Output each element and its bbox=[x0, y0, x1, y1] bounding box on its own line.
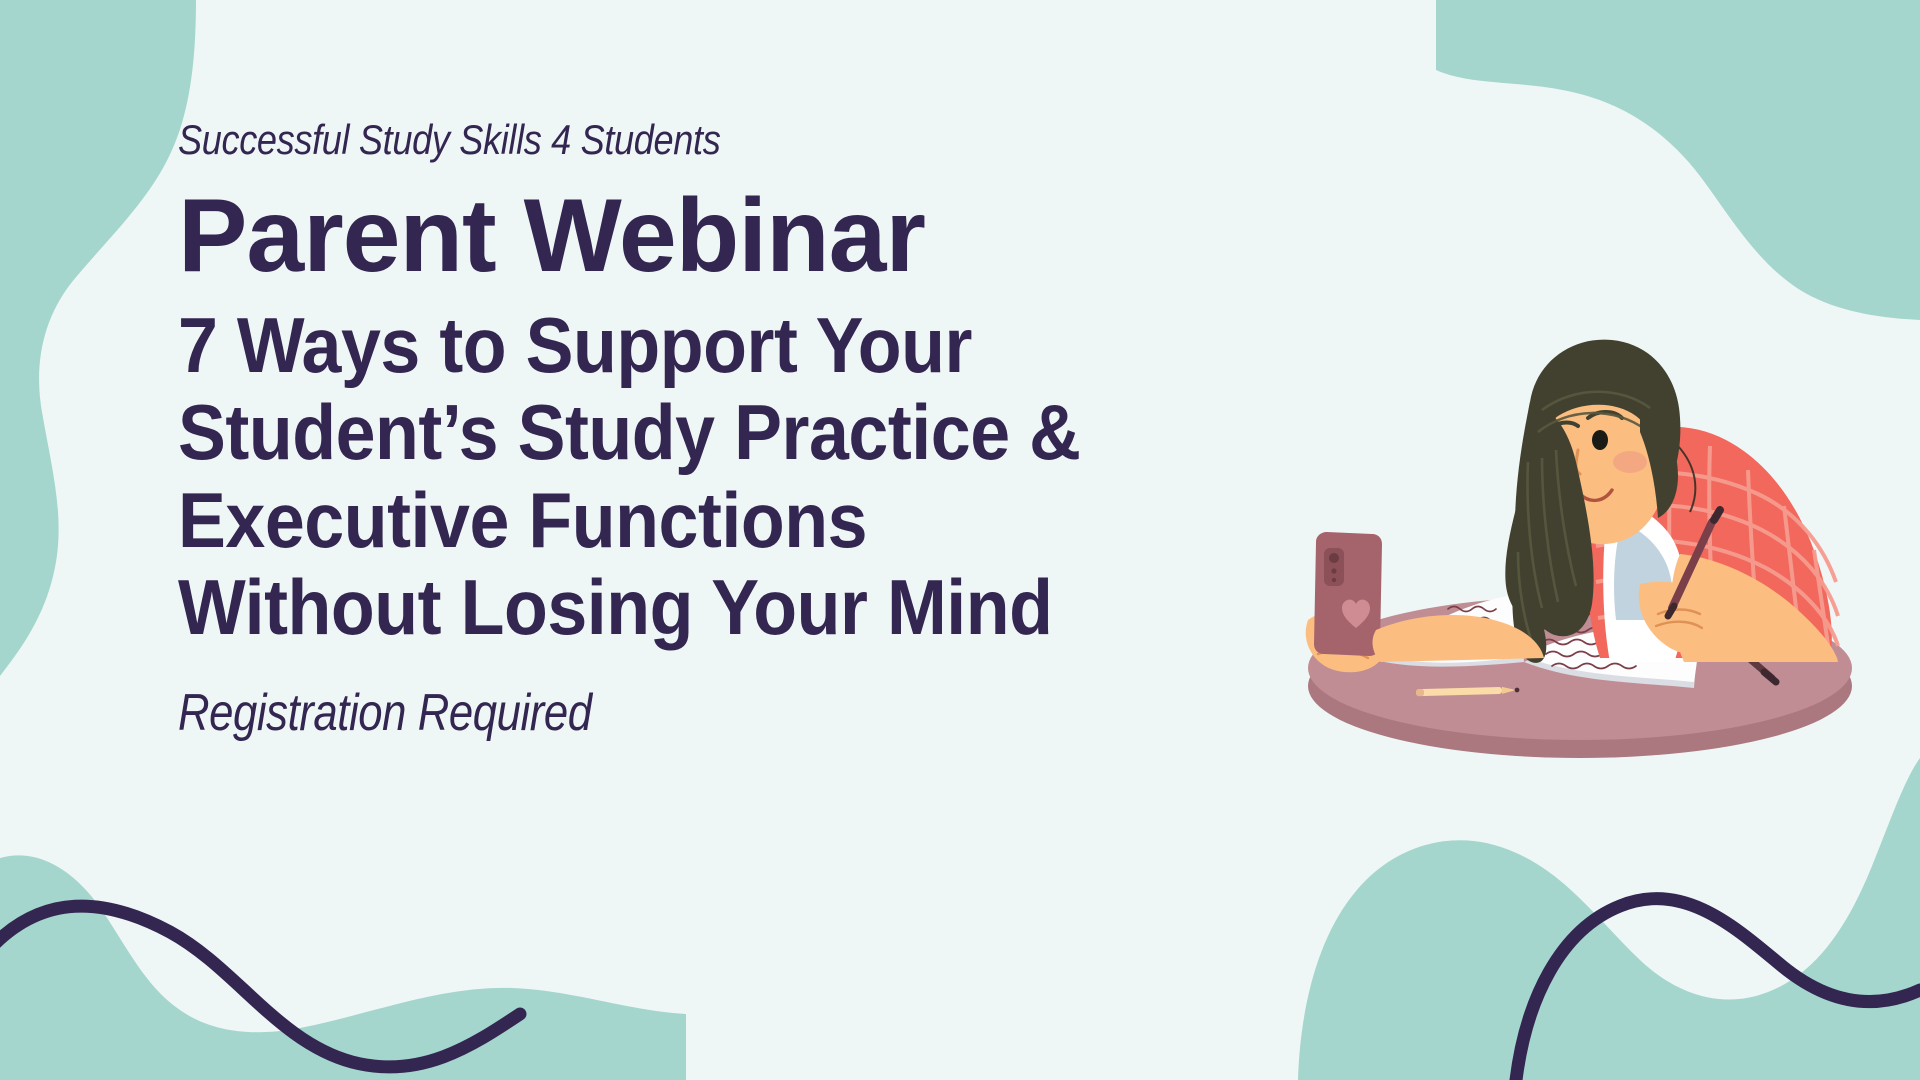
girl-studying-svg bbox=[1280, 290, 1900, 770]
blush-right bbox=[1613, 451, 1647, 473]
subheadline: 7 Ways to Support Your Student’s Study P… bbox=[178, 302, 1236, 651]
registration-note: Registration Required bbox=[178, 686, 1144, 741]
phone-flash bbox=[1332, 578, 1336, 582]
headline-text-block: Successful Study Skills 4 Students Paren… bbox=[178, 118, 1328, 740]
subheadline-line-4: Without Losing Your Mind bbox=[178, 564, 1236, 651]
phone-camera-lens-2 bbox=[1331, 568, 1336, 573]
phone-camera-lens bbox=[1329, 553, 1339, 563]
subheadline-line-3: Executive Functions bbox=[178, 477, 1236, 564]
subheadline-line-1: 7 Ways to Support Your bbox=[178, 302, 1236, 389]
eyebrow-text: Successful Study Skills 4 Students bbox=[178, 118, 1167, 162]
smartphone-in-hand bbox=[1306, 532, 1385, 672]
subheadline-line-2: Student’s Study Practice & bbox=[178, 389, 1236, 476]
eye-right bbox=[1592, 430, 1608, 450]
promo-banner: Successful Study Skills 4 Students Paren… bbox=[0, 0, 1920, 1080]
girl-studying-illustration bbox=[1280, 290, 1900, 770]
phone-body bbox=[1314, 532, 1382, 656]
page-title: Parent Webinar bbox=[178, 184, 1328, 288]
